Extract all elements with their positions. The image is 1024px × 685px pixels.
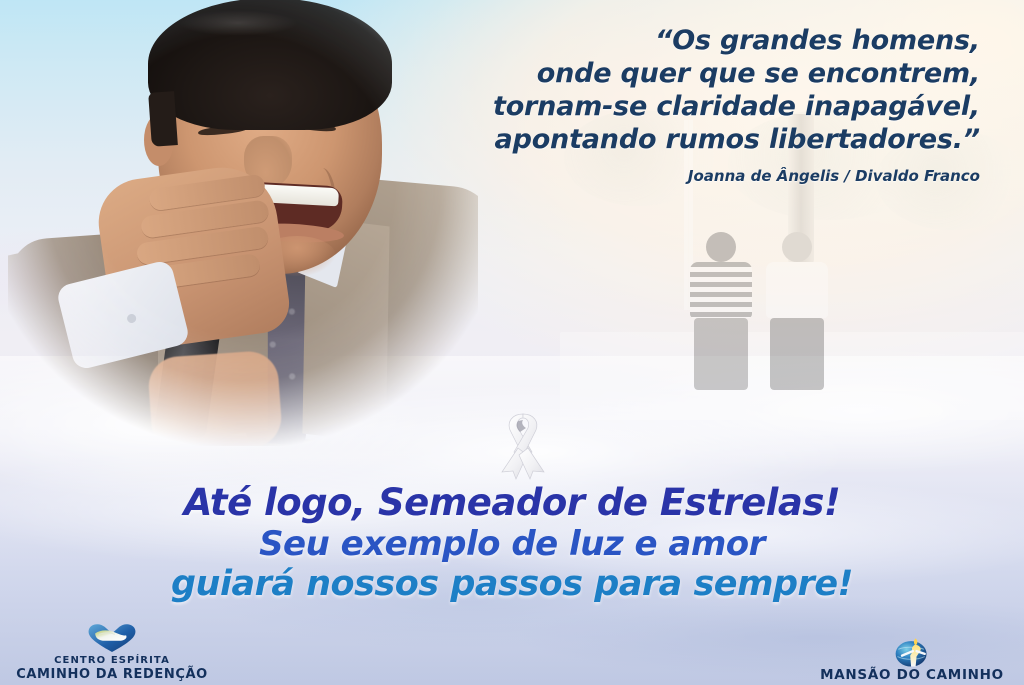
sideburn-shape: [148, 91, 178, 147]
logo-left-name: CENTRO ESPÍRITA CAMINHO DA REDENÇÃO: [6, 655, 218, 681]
memorial-headline: Até logo, Semeador de Estrelas! Seu exem…: [0, 482, 1024, 605]
globe-figure-logo-icon: [806, 635, 1018, 669]
logo-right-name: MANSÃO DO CAMINHO: [806, 669, 1018, 681]
person-white-shirt-icon: [766, 232, 828, 390]
logo-left-line-1: CENTRO ESPÍRITA: [6, 655, 218, 667]
quote-line-2: onde quer que se encontrem,: [420, 57, 980, 90]
logo-right-line-1: MANSÃO DO CAMINHO: [806, 669, 1018, 681]
quote-line-1: “Os grandes homens,: [420, 24, 980, 57]
quote-line-4: apontando rumos libertadores.”: [420, 123, 980, 156]
hair-shape: [148, 0, 392, 130]
speaker-portrait-with-microphone: [8, 0, 478, 446]
hand-holding-microphone-shape: [147, 350, 283, 455]
logo-centro-espirita: CENTRO ESPÍRITA CAMINHO DA REDENÇÃO: [6, 621, 218, 681]
logo-mansao-do-caminho: MANSÃO DO CAMINHO: [806, 635, 1018, 681]
cuff-button-icon: [126, 313, 137, 324]
quote-line-3: tornam-se claridade inapagável,: [420, 90, 980, 123]
headline-line-3: guiará nossos passos para sempre!: [0, 564, 1024, 605]
person-striped-shirt-icon: [690, 232, 752, 390]
ground-shape: [560, 390, 1024, 420]
headline-line-1: Até logo, Semeador de Estrelas!: [0, 482, 1024, 524]
headline-line-2: Seu exemplo de luz e amor: [0, 524, 1024, 564]
memorial-poster: “Os grandes homens, onde quer que se enc…: [0, 0, 1024, 685]
quote-block: “Os grandes homens, onde quer que se enc…: [420, 24, 980, 185]
logo-left-line-2: CAMINHO DA REDENÇÃO: [6, 669, 218, 681]
quote-attribution: Joanna de Ângelis / Divaldo Franco: [420, 167, 980, 185]
white-awareness-ribbon-icon: [494, 408, 552, 480]
heart-hands-logo-icon: [6, 621, 218, 655]
